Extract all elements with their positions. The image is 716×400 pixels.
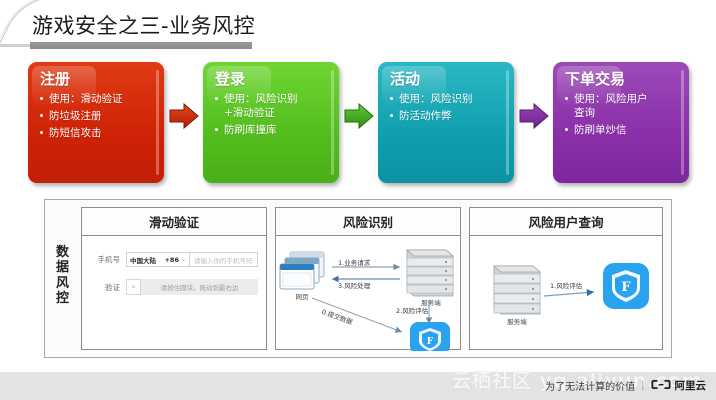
flow-card-bullets: 使用：风险用户 查询 防刷单炒信 <box>565 92 679 138</box>
arrow-label-risk-handling: 3.风险处理 <box>338 280 370 290</box>
region-name: 中国大陆 <box>130 255 156 265</box>
slider-hint-text: 请按住圆块，拖动到最右边 <box>141 282 258 292</box>
flow-card-bullets: 使用：风险识别 +滑动验证 防刷库撞库 <box>215 92 329 138</box>
blue-shield-f-icon: F <box>603 263 649 309</box>
panel-body: F 网页 服务端 1.业务请求 3.风险处理 0.提交数据 2.风险评估 <box>276 236 460 350</box>
flow-card-heading: 下单交易 <box>565 71 679 88</box>
bullet-item: 使用：风险用户 查询 <box>565 92 679 120</box>
footer-brand: 为了无法计算的价值 | 阿里云 <box>545 378 706 393</box>
captcha-form: 手机号 中国大陆 +86 ⌄ 请输入你的手机号码 验证 » 请按住圆块，拖动到最… <box>90 252 258 307</box>
flow-card-activity[interactable]: 活动 使用：风险识别 防活动作弊 <box>378 62 514 183</box>
panel-title: 滑动验证 <box>82 208 266 236</box>
flow-card-bullets: 使用：风险识别 防活动作弊 <box>390 92 504 123</box>
phone-label: 手机号 <box>90 254 120 265</box>
slide-canvas: 游戏安全之三-业务风控 注册 使用：滑动验证 防垃圾注册 防短信攻击 登录 使用… <box>0 0 716 400</box>
card-edge-highlight <box>681 70 684 175</box>
phone-row: 手机号 中国大陆 +86 ⌄ 请输入你的手机号码 <box>90 252 258 267</box>
verify-label: 验证 <box>90 282 120 293</box>
arrow-right-icon-login-to-activity <box>341 98 377 134</box>
risk-user-query-diagram: F 服务端 1.风险评估 <box>470 236 662 350</box>
panel-slider-captcha: 滑动验证 手机号 中国大陆 +86 ⌄ 请输入你的手机号码 验证 » 请按住 <box>81 207 267 350</box>
panel-title: 风险识别 <box>276 208 460 236</box>
aliyun-logo-icon <box>651 379 671 393</box>
region-select[interactable]: 中国大陆 +86 ⌄ <box>126 252 190 267</box>
flow-card-heading: 注册 <box>40 71 154 88</box>
bullet-item: 防垃圾注册 <box>40 109 154 123</box>
flow-card-order[interactable]: 下单交易 使用：风险用户 查询 防刷单炒信 <box>553 62 689 183</box>
arrow-label-risk-eval: 1.风险评估 <box>550 280 582 290</box>
arrow-right-icon-register-to-login <box>166 98 202 134</box>
server-rack-icon <box>407 250 453 296</box>
node-label-web: 网页 <box>282 291 322 301</box>
flow-card-bullets: 使用：滑动验证 防垃圾注册 防短信攻击 <box>40 92 154 141</box>
flow-card-heading: 登录 <box>215 71 329 88</box>
arrow-label-business-request: 1.业务请求 <box>338 257 370 267</box>
page-title: 游戏安全之三-业务风控 <box>32 10 255 40</box>
flow-card-login[interactable]: 登录 使用：风险识别 +滑动验证 防刷库撞库 <box>203 62 339 183</box>
arrow-label-risk-eval: 2.风险评估 <box>396 305 428 315</box>
flow-card-register[interactable]: 注册 使用：滑动验证 防垃圾注册 防短信攻击 <box>28 62 164 183</box>
verify-row: 验证 » 请按住圆块，拖动到最右边 <box>90 279 258 295</box>
node-label-server: 服务端 <box>494 316 540 326</box>
phone-input[interactable]: 请输入你的手机号码 <box>190 252 258 267</box>
panel-risk-user-query: 风险用户查询 <box>469 207 663 350</box>
bullet-item: 防活动作弊 <box>390 109 504 123</box>
risk-identify-diagram: F 网页 服务端 1.业务请求 3.风险处理 0.提交数据 2.风险评估 <box>276 236 460 350</box>
double-chevron-right-icon[interactable]: » <box>126 279 141 295</box>
region-code: +86 <box>164 256 179 264</box>
arrow-right-icon-activity-to-order <box>516 98 552 134</box>
blue-shield-f-icon: F <box>410 322 450 351</box>
card-edge-highlight <box>156 70 159 175</box>
panel-body: F 服务端 1.风险评估 <box>470 236 662 350</box>
svg-text:F: F <box>427 337 434 347</box>
bullet-item: 使用：风险识别 +滑动验证 <box>215 92 329 120</box>
panel-risk-identify: 风险识别 <box>275 207 461 350</box>
slider-captcha-track[interactable]: » 请按住圆块，拖动到最右边 <box>126 279 258 295</box>
card-edge-highlight <box>506 70 509 175</box>
section-vertical-label: 数据风控 <box>50 245 76 306</box>
panel-body: 手机号 中国大陆 +86 ⌄ 请输入你的手机号码 验证 » 请按住圆块，拖动到最… <box>82 236 266 350</box>
chevron-down-icon: ⌄ <box>181 256 186 263</box>
title-underline <box>30 42 252 49</box>
footer-tagline: 为了无法计算的价值 <box>545 378 635 393</box>
footer-separator: | <box>641 380 644 391</box>
stacked-windows-icon <box>280 252 324 289</box>
server-rack-icon <box>494 266 540 314</box>
footer-brand-name: 阿里云 <box>675 378 707 393</box>
bullet-item: 防刷单炒信 <box>565 123 679 137</box>
svg-text:F: F <box>621 280 631 295</box>
bullet-item: 使用：风险识别 <box>390 92 504 106</box>
bullet-item: 防刷库撞库 <box>215 123 329 137</box>
flow-card-heading: 活动 <box>390 71 504 88</box>
bullet-item: 防短信攻击 <box>40 126 154 140</box>
bullet-item: 使用：滑动验证 <box>40 92 154 106</box>
panel-title: 风险用户查询 <box>470 208 662 236</box>
card-edge-highlight <box>331 70 334 175</box>
title-rule-tail <box>0 44 32 47</box>
